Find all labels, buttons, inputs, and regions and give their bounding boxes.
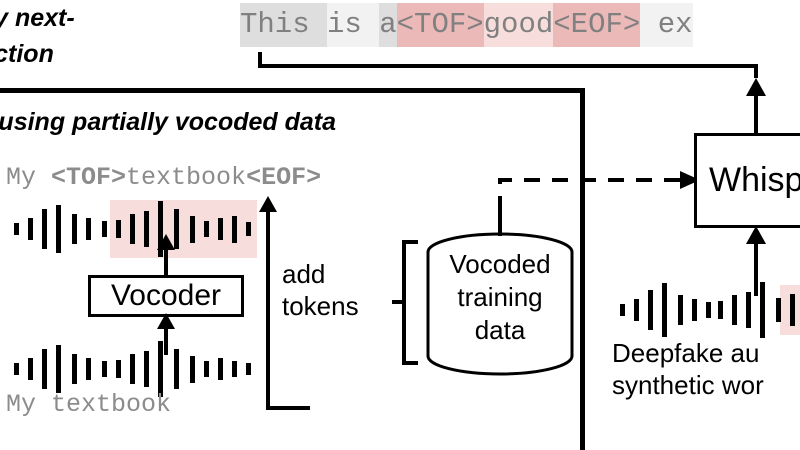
token-strip: This is a<TOF>good<EOF> ex (240, 3, 693, 47)
deepfake-caption-line1: Deepfake au (612, 337, 764, 369)
vocoded-token-tof: <TOF> (51, 163, 126, 192)
deepfake-caption-line2: synthetic wor (612, 369, 764, 401)
add-tokens-arrow-shaft (266, 210, 270, 410)
waveform-bar (204, 221, 209, 237)
waveform-bar (14, 363, 19, 375)
add-tokens-label-line1: add (282, 258, 359, 290)
waveform-bar (86, 218, 91, 240)
waveform-bar (732, 295, 737, 325)
waveform-bar (190, 356, 195, 383)
waveform-bar (246, 363, 251, 375)
vocoder-out-arrow-shaft (164, 247, 168, 277)
add-tokens-arrow-head (259, 196, 277, 212)
waveform-bar (28, 358, 33, 380)
waveform-bar (648, 290, 653, 331)
waveform-bar (56, 205, 61, 254)
vocoder-box[interactable]: Vocoder (88, 275, 244, 317)
whisper-box[interactable]: Whispe (694, 133, 800, 228)
waveform-bar (218, 358, 223, 380)
waveform-bar (130, 354, 135, 384)
vocoded-token-eof: <EOF> (246, 163, 321, 192)
waveform-bar (102, 221, 107, 237)
waveform-bar (692, 299, 697, 321)
vocoded-token-caption: My <TOF>textbook<EOF> (6, 163, 321, 192)
diagram-canvas: This is a<TOF>good<EOF> ex e by next- ed… (0, 0, 800, 450)
waveform-bar (760, 282, 765, 339)
waveform-bar (144, 211, 149, 246)
waveform-bar (130, 214, 135, 244)
waveform-bar (204, 361, 209, 377)
waveform-vocoded (6, 200, 266, 258)
vocoder-out-arrow-head (157, 234, 175, 250)
waveform-bar (662, 283, 667, 337)
token-4: good (484, 3, 554, 47)
dataset-bracket-bottom-arm (402, 361, 418, 365)
waveform-bar (232, 216, 237, 243)
deepfake-caption: Deepfake au synthetic wor (612, 337, 764, 401)
waveform-bar (232, 361, 237, 377)
section-divider-vertical (580, 88, 585, 450)
dataset-bracket-mid-tick (392, 300, 404, 304)
waveform-bar (72, 354, 77, 384)
waveform-bar (116, 360, 121, 379)
add-tokens-label: add tokens (282, 258, 359, 322)
waveform-bar (190, 216, 195, 243)
cylinder-label-line3: data (424, 314, 576, 347)
token-0: This (240, 3, 327, 47)
vocoder-box-label: Vocoder (111, 279, 221, 313)
token-bracket-right-tick (754, 64, 758, 78)
waveform-bar (246, 222, 251, 236)
waveform-bar (28, 218, 33, 240)
waveform-bar (746, 292, 751, 327)
waveform-bar (56, 345, 61, 394)
waveform-bar (116, 220, 121, 239)
headline-line-2: ediction (0, 40, 54, 69)
waveform-bar (72, 214, 77, 244)
waveform-bar (14, 223, 19, 235)
vocoded-token-pre: My (6, 163, 51, 192)
whisper-input-arrow-head (746, 226, 766, 244)
token-3: <TOF> (397, 3, 484, 47)
waveform-bar (706, 302, 711, 318)
waveform-bar (42, 209, 47, 250)
waveform-bar (790, 294, 795, 326)
waveform-bar (718, 301, 723, 320)
token-bracket-left-tick (258, 52, 262, 66)
cylinder-label-line1: Vocoded (424, 248, 576, 281)
vocoder-in-arrow-head (157, 313, 175, 329)
vocoded-token-mid: textbook (126, 163, 246, 192)
waveform-bar (144, 351, 149, 386)
token-1: is (327, 3, 379, 47)
whisper-box-label: Whispe (709, 161, 800, 200)
waveform-bar (174, 349, 179, 390)
headline-line-3: ing using partially vocoded data (0, 108, 336, 137)
waveform-deepfake (612, 285, 800, 335)
headline-line-1: e by next- (0, 4, 75, 33)
add-tokens-label-line2: tokens (282, 290, 359, 322)
section-divider (0, 88, 585, 93)
whisper-output-arrow-head (746, 78, 766, 96)
waveform-bar (42, 349, 47, 390)
token-6: ex (640, 3, 692, 47)
waveform-bar (218, 218, 223, 240)
waveform-bar (776, 298, 781, 322)
cylinder-label-line2: training (424, 281, 576, 314)
token-2: a (379, 3, 396, 47)
waveform-bar (158, 341, 163, 398)
waveform-bar (620, 304, 625, 316)
training-dashed-path (494, 170, 704, 216)
token-bracket-horizontal (258, 64, 758, 68)
dataset-bracket-top-arm (402, 240, 418, 244)
waveform-bar (102, 361, 107, 377)
plain-token-caption: My textbook (6, 390, 171, 419)
waveform-bar (634, 299, 639, 321)
whisper-output-arrow-shaft (754, 92, 758, 134)
waveform-bar (678, 295, 683, 325)
waveform-bar (86, 358, 91, 380)
add-tokens-arrow-foot (266, 406, 310, 410)
token-5: <EOF> (553, 3, 640, 47)
cylinder-label: Vocoded training data (424, 248, 576, 347)
